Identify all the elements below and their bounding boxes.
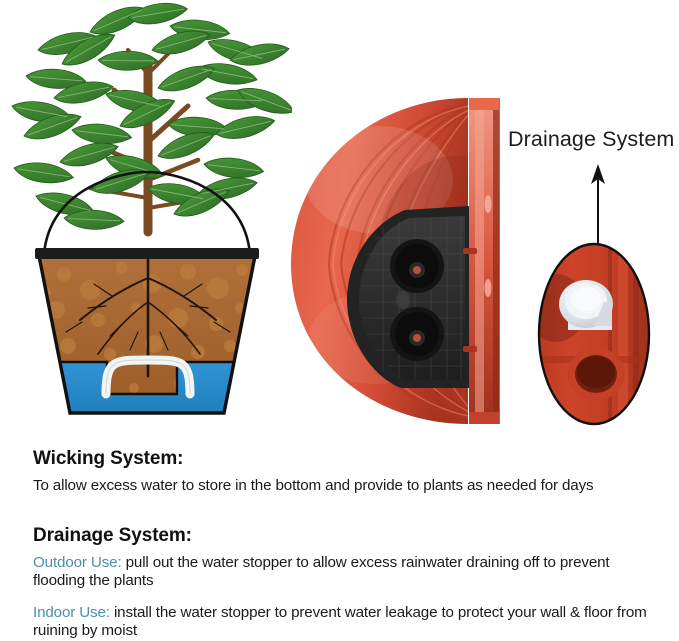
plant-foliage: [10, 2, 292, 234]
planter-cutaway-figure: [283, 88, 518, 433]
drainage-hole: [567, 348, 625, 400]
wick-hole-upper: [390, 239, 444, 293]
drainage-system-heading: Drainage System:: [33, 525, 663, 547]
wicking-system-section: Wicking System: To allow excess water to…: [33, 448, 663, 495]
indoor-use-line: Indoor Use: install the water stopper to…: [33, 604, 663, 641]
wick-hole-lower: [390, 307, 444, 361]
indoor-use-text: install the water stopper to prevent wat…: [33, 604, 647, 640]
callout-content: [534, 238, 654, 430]
drainage-system-section: Drainage System: Outdoor Use: pull out t…: [33, 525, 663, 641]
drainage-system-callout-label: Drainage System: [508, 127, 674, 152]
indoor-use-label: Indoor Use:: [33, 604, 110, 621]
illustration-area: Drainage System: [0, 0, 679, 440]
drainage-detail-callout-figure: [534, 238, 654, 430]
wicking-system-heading: Wicking System:: [33, 448, 663, 470]
tray-center-nub: [396, 291, 410, 309]
planter-cutaway-svg: [283, 88, 518, 433]
plant-pot-cross-section-figure: [2, 2, 292, 430]
pot-body: [32, 248, 264, 422]
outdoor-use-line: Outdoor Use: pull out the water stopper …: [33, 554, 663, 591]
plant-pot-svg: [2, 2, 292, 430]
wicking-system-body: To allow excess water to store in the bo…: [33, 477, 663, 496]
pot-rim: [35, 248, 259, 259]
outdoor-use-label: Outdoor Use:: [33, 554, 122, 571]
drainage-callout-svg: [534, 238, 654, 430]
